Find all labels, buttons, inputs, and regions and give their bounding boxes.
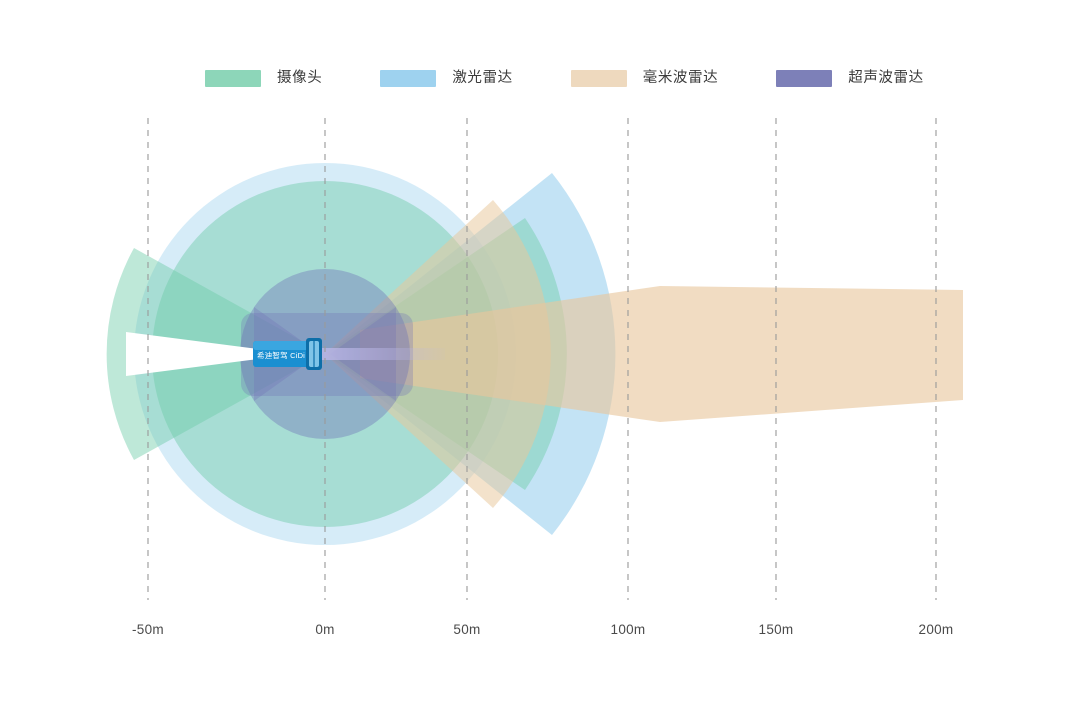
tick-label-0m: 0m — [315, 622, 334, 637]
tick-label-200m: 200m — [919, 622, 954, 637]
ultrasonic-front-beam — [325, 348, 445, 360]
sensor-coverage-plot: 希迪智驾 CiDi — [0, 0, 1080, 708]
vehicle-body-highlight — [253, 341, 315, 350]
figure-root: 摄像头 激光雷达 毫米波雷达 超声波雷达 — [0, 0, 1080, 708]
tick-label--50m: -50m — [132, 622, 164, 637]
tick-label-100m: 100m — [611, 622, 646, 637]
tick-label-150m: 150m — [759, 622, 794, 637]
tick-label-50m: 50m — [453, 622, 480, 637]
vehicle-brand-text: 希迪智驾 CiDi — [257, 350, 305, 360]
ego-vehicle[interactable]: 希迪智驾 CiDi — [253, 338, 322, 370]
